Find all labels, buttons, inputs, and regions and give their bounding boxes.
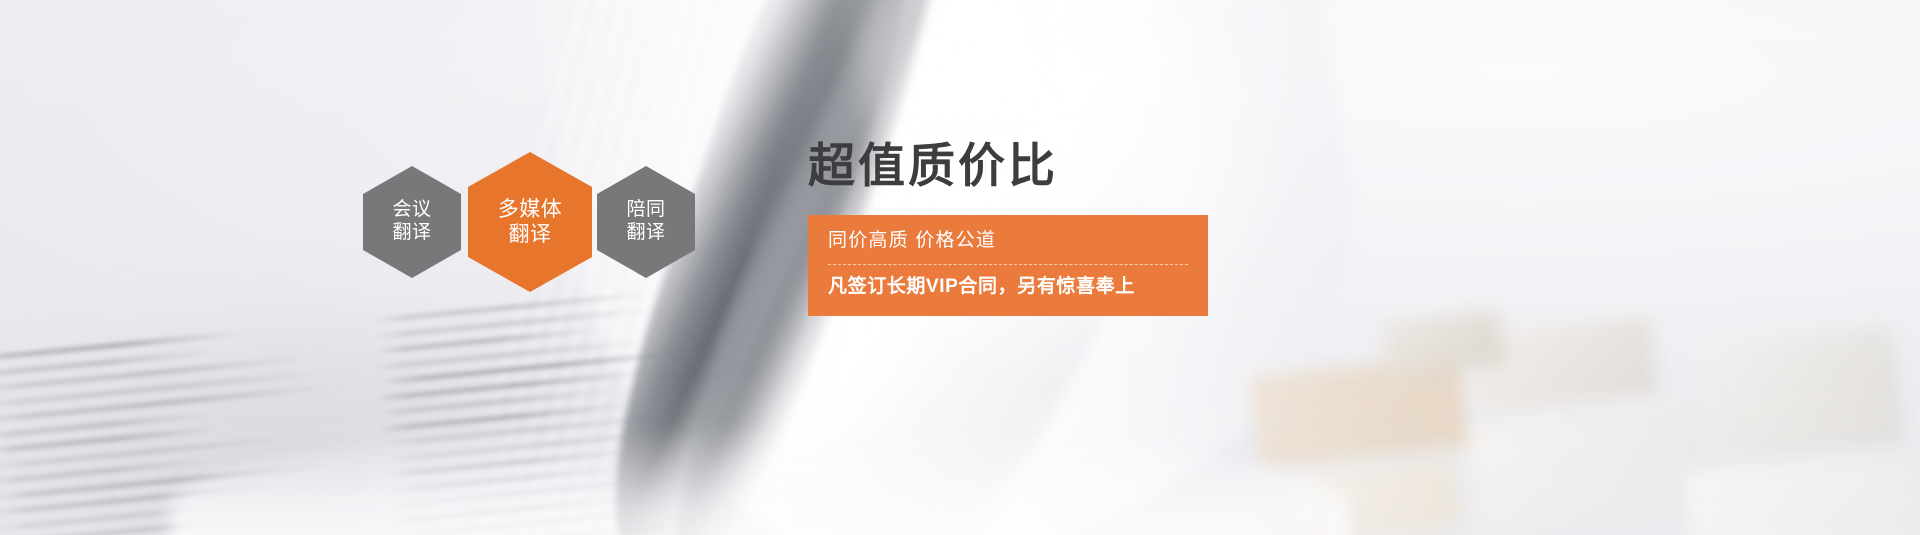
promo-dashed-divider [828, 264, 1188, 265]
promo-line-secondary: 凡签订长期VIP合同，另有惊喜奉上 [828, 273, 1188, 302]
hexagon-label-line1: 会议 [392, 199, 431, 222]
hexagon-label-line1: 陪同 [626, 199, 665, 222]
service-hexagon-group: 会议 翻译 多媒体 翻译 陪同 翻译 [363, 152, 723, 292]
hexagon-label-line2: 翻译 [392, 222, 431, 245]
hexagon-escort-translation[interactable]: 陪同 翻译 [597, 166, 695, 278]
hexagon-label-line2: 翻译 [626, 222, 665, 245]
hexagon-label-line2: 翻译 [509, 222, 552, 247]
hexagon-multimedia-translation[interactable]: 多媒体 翻译 [468, 152, 592, 292]
copy-block: 超值质价比 同价高质 价格公道 凡签订长期VIP合同，另有惊喜奉上 [808, 140, 1428, 316]
promo-banner: 会议 翻译 多媒体 翻译 陪同 翻译 超值质价比 同价高质 价格公道 凡签订长期… [0, 0, 1920, 535]
promo-line-primary: 同价高质 价格公道 [828, 227, 1188, 256]
promo-box: 同价高质 价格公道 凡签订长期VIP合同，另有惊喜奉上 [808, 215, 1208, 316]
hexagon-conference-translation[interactable]: 会议 翻译 [363, 166, 461, 278]
banner-headline: 超值质价比 [808, 140, 1428, 193]
hexagon-label-line1: 多媒体 [498, 197, 563, 222]
